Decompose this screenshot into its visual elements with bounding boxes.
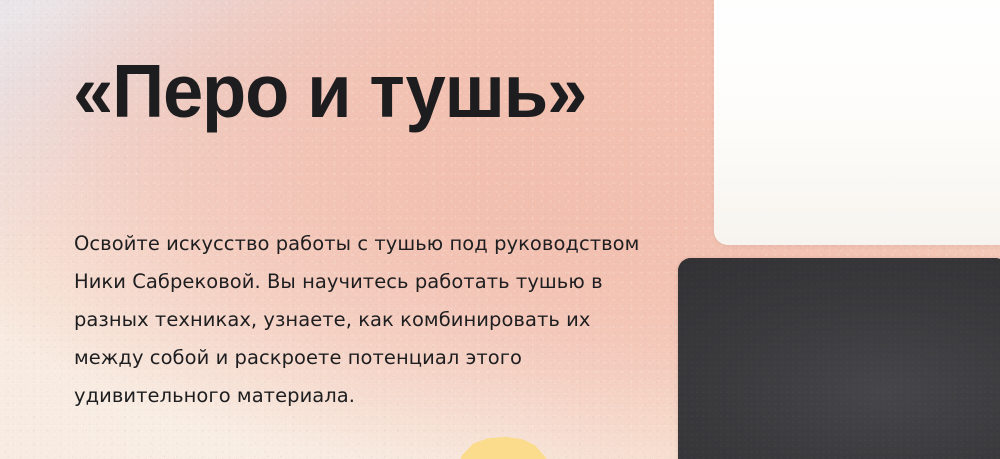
black-paper-grain	[678, 258, 1000, 459]
page-title: «Перо и тушь»	[73, 54, 586, 129]
hero-description-line: между собой и раскроете потенциал этого	[74, 339, 674, 377]
gallery-card-column-capital	[714, 0, 1000, 245]
landing-hero: «Перо и тушь» Освойте искусство работы с…	[0, 0, 1000, 459]
hero-description-line: Ники Сабрековой. Вы научитесь работать т…	[74, 263, 674, 301]
hero-description: Освойте искусство работы с тушью под рук…	[74, 225, 674, 415]
paper-surface	[714, 0, 1000, 245]
hero-text-column: «Перо и тушь» Освойте искусство работы с…	[0, 0, 690, 459]
hero-description-line: Освойте искусство работы с тушью под рук…	[74, 225, 674, 263]
gallery-card-peony	[678, 258, 1000, 459]
hero-description-line: разных техниках, узнаете, как комбиниров…	[74, 301, 674, 339]
hero-description-line: удивительного материала.	[74, 377, 674, 415]
